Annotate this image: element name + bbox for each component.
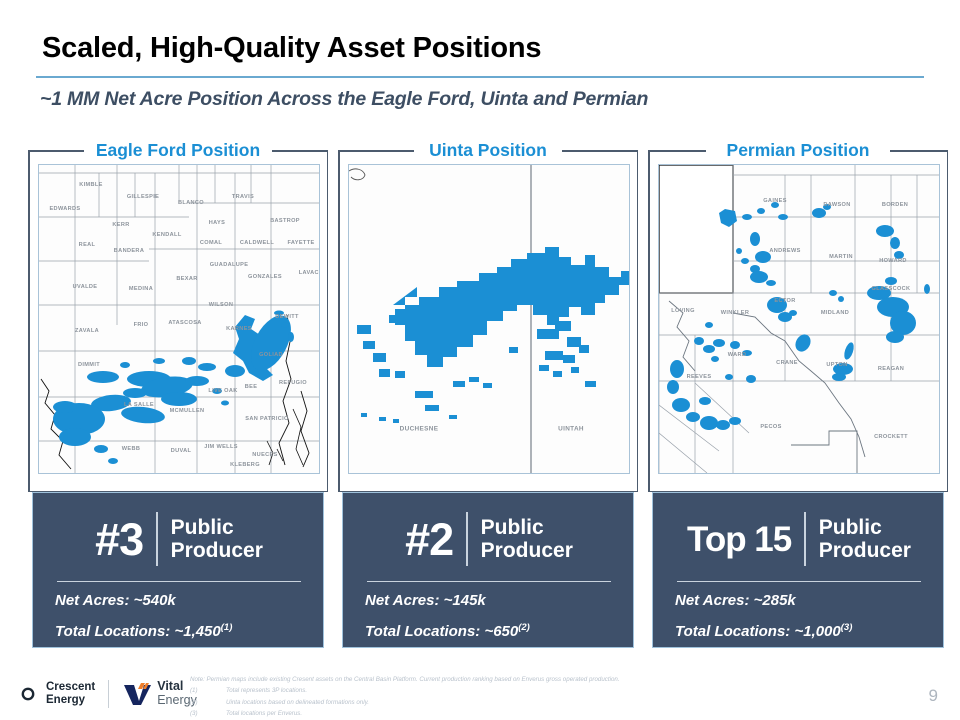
total-locations-text: Total Locations: ~1,450 xyxy=(55,623,221,640)
county-label: UPTON xyxy=(826,362,847,368)
county-label: WINKLER xyxy=(721,310,750,316)
county-label: KIMBLE xyxy=(79,182,103,188)
total-locations: Total Locations: ~1,450(1) xyxy=(55,622,232,640)
panel-headline: #3 Public Producer xyxy=(33,503,325,575)
column-uinta: Uinta Position xyxy=(338,140,638,492)
page-number: 9 xyxy=(929,686,938,706)
county-label: PECOS xyxy=(760,424,781,430)
county-label: BEXAR xyxy=(176,276,197,282)
county-label: MEDINA xyxy=(129,286,153,292)
county-label: HAYS xyxy=(209,220,225,226)
county-label: SAN PATRICIO xyxy=(245,416,288,422)
county-label: KLEBERG xyxy=(230,462,260,468)
divider xyxy=(156,512,158,566)
net-acres: Net Acres: ~285k xyxy=(675,592,796,609)
column-title-eagle-ford: Eagle Ford Position xyxy=(28,140,328,161)
county-label: MARTIN xyxy=(829,254,853,260)
total-locations-text: Total Locations: ~1,000 xyxy=(675,623,841,640)
county-label: LOVING xyxy=(671,308,695,314)
net-acres: Net Acres: ~145k xyxy=(365,592,486,609)
panel-headline: Top 15 Public Producer xyxy=(653,503,945,575)
footnote-text: Total represents 3P locations. xyxy=(226,685,307,696)
county-label: MCMULLEN xyxy=(170,408,205,414)
county-label: CROCKETT xyxy=(874,434,908,440)
page-subtitle: ~1 MM Net Acre Position Across the Eagle… xyxy=(40,88,648,111)
title-divider xyxy=(36,76,924,78)
rank-value: #2 xyxy=(405,517,453,562)
divider xyxy=(804,512,806,566)
column-title-text: Permian Position xyxy=(719,140,878,160)
county-label: DUCHESNE xyxy=(400,426,439,433)
county-label: DAWSON xyxy=(823,202,850,208)
county-label: BORDEN xyxy=(882,202,908,208)
panel-headline: #2 Public Producer xyxy=(343,503,635,575)
county-label: HOWARD xyxy=(879,258,907,264)
county-label: BEE xyxy=(245,384,258,390)
footnote-ref: (1) xyxy=(221,622,233,633)
column-title-permian: Permian Position xyxy=(648,140,948,161)
crescent-mark-icon xyxy=(14,681,40,707)
county-label: GONZALES xyxy=(248,274,282,280)
total-locations: Total Locations: ~650(2) xyxy=(365,622,530,640)
uinta-map: DUCHESNE UINTAH xyxy=(348,164,630,474)
column-eagle-ford: Eagle Ford Position xyxy=(28,140,328,492)
county-label: DEWITT xyxy=(275,314,299,320)
producer-label: Public Producer xyxy=(481,516,573,562)
total-locations-text: Total Locations: ~650 xyxy=(365,623,518,640)
footnote-row: (1) Total represents 3P locations. xyxy=(190,685,810,696)
county-label: GLASSCOCK xyxy=(872,286,911,292)
producer-line-2: Producer xyxy=(481,539,573,562)
footnote-row: (3) Total locations per Enverus. xyxy=(190,708,810,719)
producer-line-1: Public xyxy=(481,516,573,539)
county-label: MIDLAND xyxy=(821,310,849,316)
county-label: KARNES xyxy=(226,326,252,332)
eagle-ford-map: KIMBLE GILLESPIE BLANCO TRAVIS BASTROP E… xyxy=(38,164,320,474)
producer-label: Public Producer xyxy=(819,516,911,562)
county-label: FRIO xyxy=(134,322,149,328)
producer-line-2: Producer xyxy=(171,539,263,562)
county-label: ECTOR xyxy=(774,298,795,304)
county-label: WILSON xyxy=(209,302,233,308)
footer-note-text: Note: Permian maps include existing Cres… xyxy=(190,674,810,685)
permian-map: GAINES DAWSON BORDEN ANDREWS MARTIN HOWA… xyxy=(658,164,940,474)
county-label: UVALDE xyxy=(73,284,98,290)
county-label: BLANCO xyxy=(178,200,204,206)
slide: Scaled, High-Quality Asset Positions ~1 … xyxy=(0,0,960,720)
county-label: LAVACA xyxy=(299,270,320,276)
rank-value: Top 15 xyxy=(687,522,791,557)
net-acres: Net Acres: ~540k xyxy=(55,592,176,609)
county-label: LIVE OAK xyxy=(208,388,237,394)
county-label: REAL xyxy=(79,242,96,248)
county-label: WARD xyxy=(728,352,747,358)
footnote-row: (2) Uinta locations based on delineated … xyxy=(190,697,810,708)
county-label: DIMMIT xyxy=(78,362,100,368)
county-label: BASTROP xyxy=(270,218,300,224)
county-label: REFUGIO xyxy=(279,380,307,386)
county-label: NUECES xyxy=(252,452,277,458)
stat-panel-eagle-ford: #3 Public Producer Net Acres: ~540k Tota… xyxy=(32,492,324,648)
county-label: KERR xyxy=(112,222,129,228)
column-permian: Permian Position xyxy=(648,140,948,492)
panel-divider xyxy=(367,581,611,582)
crescent-energy-logo: Crescent Energy xyxy=(14,681,95,707)
vital-energy-logo: Vital Energy xyxy=(122,680,197,708)
footnote-ref: (2) xyxy=(518,622,530,633)
producer-line-1: Public xyxy=(819,516,911,539)
county-label: COMAL xyxy=(200,240,222,246)
footnote-number: (1) xyxy=(190,685,226,696)
county-label: REAGAN xyxy=(878,366,904,372)
county-label: GAINES xyxy=(763,198,787,204)
footnote-ref: (3) xyxy=(841,622,853,633)
stat-panel-permian: Top 15 Public Producer Net Acres: ~285k … xyxy=(652,492,944,648)
county-label: REEVES xyxy=(687,374,712,380)
county-label: ATASCOSA xyxy=(168,320,201,326)
vital-mark-icon xyxy=(122,681,152,707)
county-label: BANDERA xyxy=(114,248,144,254)
page-title: Scaled, High-Quality Asset Positions xyxy=(42,32,541,65)
county-label: JIM WELLS xyxy=(204,444,238,450)
column-title-text: Eagle Ford Position xyxy=(88,140,268,160)
logo-bar: Crescent Energy Vital Energy xyxy=(14,676,197,712)
county-label: CRANE xyxy=(776,360,798,366)
footnote-text: Total locations per Enverus. xyxy=(226,708,302,719)
county-label: ANDREWS xyxy=(769,248,800,254)
county-label: GILLESPIE xyxy=(127,194,159,200)
panel-divider xyxy=(677,581,921,582)
footnote-number: (2) xyxy=(190,697,226,708)
rank-value: #3 xyxy=(95,517,143,562)
footnotes: Note: Permian maps include existing Cres… xyxy=(190,674,810,720)
panel-divider xyxy=(57,581,301,582)
county-label: WEBB xyxy=(122,446,141,452)
crescent-line-1: Crescent xyxy=(46,681,95,694)
producer-line-1: Public xyxy=(171,516,263,539)
county-label: KENDALL xyxy=(152,232,181,238)
column-title-text: Uinta Position xyxy=(421,140,555,160)
county-label: LA SALLE xyxy=(124,402,154,408)
county-label: EDWARDS xyxy=(49,206,80,212)
footnote-text: Uinta locations based on delineated form… xyxy=(226,697,369,708)
county-label: ZAVALA xyxy=(75,328,99,334)
column-title-uinta: Uinta Position xyxy=(338,140,638,161)
county-label: FAYETTE xyxy=(287,240,314,246)
footnote-number: (3) xyxy=(190,708,226,719)
stat-panel-uinta: #2 Public Producer Net Acres: ~145k Tota… xyxy=(342,492,634,648)
county-label: CALDWELL xyxy=(240,240,274,246)
crescent-logo-text: Crescent Energy xyxy=(46,681,95,707)
county-label: DUVAL xyxy=(171,448,192,454)
divider xyxy=(466,512,468,566)
crescent-line-2: Energy xyxy=(46,694,95,707)
county-label: GUADALUPE xyxy=(210,262,249,268)
county-label: TRAVIS xyxy=(232,194,254,200)
total-locations: Total Locations: ~1,000(3) xyxy=(675,622,852,640)
producer-label: Public Producer xyxy=(171,516,263,562)
logo-divider xyxy=(108,680,109,708)
county-label: GOLIAD xyxy=(259,352,283,358)
county-label: UINTAH xyxy=(558,426,584,433)
producer-line-2: Producer xyxy=(819,539,911,562)
